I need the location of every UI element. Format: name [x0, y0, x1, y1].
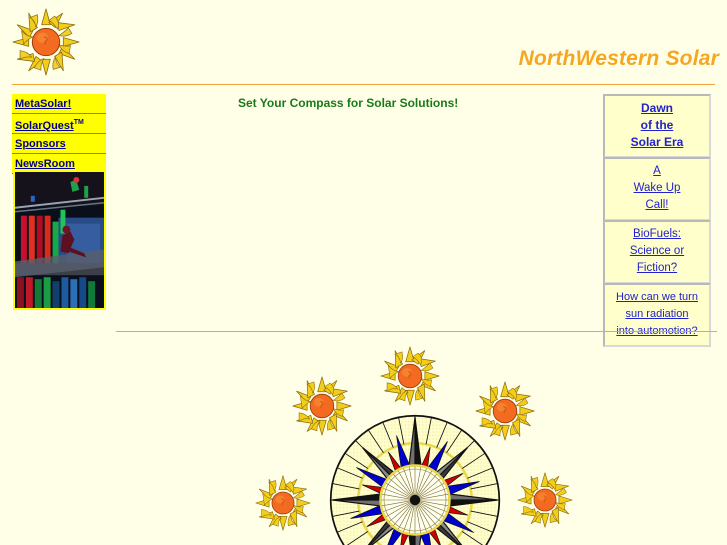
- story-link-line[interactable]: How can we turn: [607, 289, 707, 306]
- sidebar-item-solarquest[interactable]: SolarQuestTM: [12, 114, 106, 134]
- story-box-a-wake-up-call[interactable]: A Wake Up Call!: [603, 157, 711, 221]
- sidebar-item-label[interactable]: Sponsors: [15, 138, 66, 150]
- story-list: Dawn of the Solar Era A Wake Up Call! Bi…: [603, 94, 711, 346]
- sun-icon: [291, 375, 353, 437]
- story-link-line[interactable]: BioFuels:: [607, 226, 707, 243]
- sidebar-item-sponsors[interactable]: Sponsors: [12, 134, 106, 154]
- sun-icon: [516, 471, 574, 529]
- sun-icon: [379, 345, 441, 407]
- story-box-dawn-of-the-solar-era[interactable]: Dawn of the Solar Era: [603, 94, 711, 158]
- story-link-line[interactable]: of the: [607, 117, 707, 134]
- header-divider: [12, 84, 715, 85]
- sidebar-item-label[interactable]: SolarQuestTM: [15, 120, 84, 132]
- story-link-line[interactable]: Solar Era: [607, 134, 707, 151]
- story-link-line[interactable]: Science or: [607, 243, 707, 260]
- trademark-mark: TM: [74, 116, 84, 130]
- sun-icon: [474, 380, 536, 442]
- story-link-line[interactable]: Call!: [607, 197, 707, 214]
- sidebar-item-text: SolarQuest: [15, 120, 74, 132]
- sidebar-nav: MetaSolar! SolarQuestTM Sponsors NewsRoo…: [12, 94, 106, 174]
- solar-panel-photo: [13, 170, 106, 310]
- sidebar-item-label[interactable]: MetaSolar!: [15, 98, 71, 110]
- sidebar-item-label[interactable]: NewsRoom: [15, 158, 75, 170]
- content-divider: [116, 331, 717, 332]
- page-headline: Set Your Compass for Solar Solutions!: [238, 96, 458, 110]
- story-link-line[interactable]: Dawn: [607, 100, 707, 117]
- page-root: NorthWestern Solar MetaSolar! SolarQuest…: [0, 0, 727, 545]
- sun-icon: [10, 6, 82, 78]
- site-title: NorthWestern Solar: [519, 47, 719, 71]
- story-link-line[interactable]: Fiction?: [607, 260, 707, 277]
- story-link-line[interactable]: A: [607, 163, 707, 180]
- sun-icon: [254, 474, 312, 532]
- sidebar-item-metasolar[interactable]: MetaSolar!: [12, 94, 106, 114]
- story-link-line[interactable]: sun radiation: [607, 306, 707, 323]
- story-box-biofuels-science-or-fiction[interactable]: BioFuels: Science or Fiction?: [603, 220, 711, 284]
- story-link-line[interactable]: Wake Up: [607, 180, 707, 197]
- compass-artwork: [0, 336, 727, 545]
